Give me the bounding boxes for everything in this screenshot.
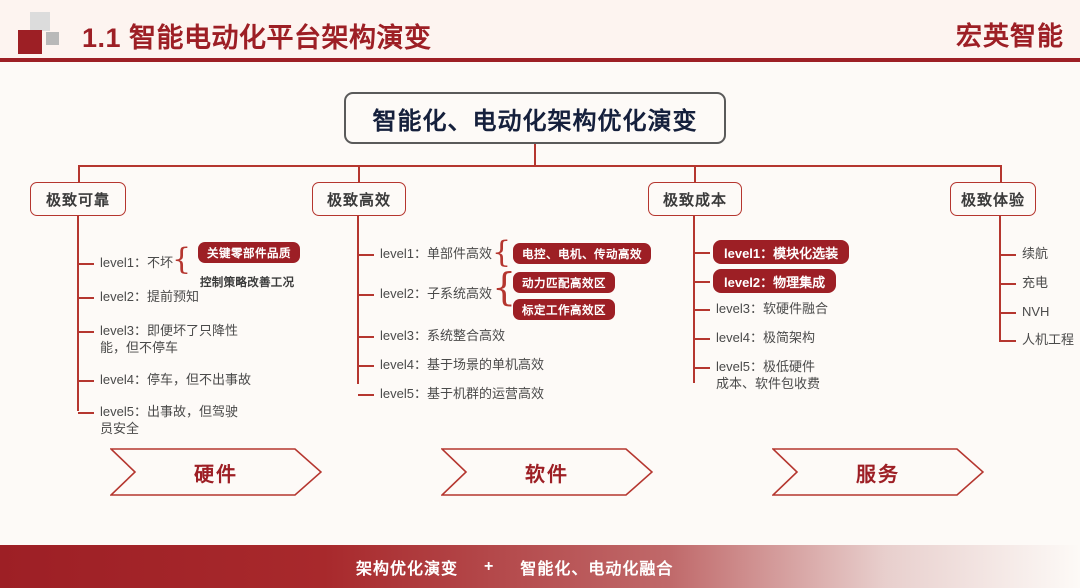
list-item[interactable]: level5：极低硬件 成本、软件包收费 (694, 358, 884, 392)
annotation-note: 控制策略改善工况 (200, 274, 294, 290)
list-item[interactable]: 人机工程 (1000, 331, 1080, 348)
list-item[interactable]: level2：提前预知 (78, 288, 268, 305)
level-label: level1：单部件高效 (380, 245, 492, 262)
footer-content: 架构优化演变 + 智能化、电动化融合 (356, 555, 673, 579)
footer-right-text: 智能化、电动化融合 (520, 555, 673, 579)
list-item[interactable]: 续航 (1000, 245, 1070, 262)
square-dark-red-icon (18, 30, 42, 54)
level-label: 续航 (1022, 245, 1048, 262)
list-item[interactable]: 充电 (1000, 274, 1070, 291)
level-label: 充电 (1022, 274, 1048, 291)
chevron-label-service: 服务 (772, 448, 984, 496)
level-label: level4：基于场景的单机高效 (380, 356, 544, 373)
square-light-gray-icon (30, 12, 50, 31)
connector-tick (358, 394, 374, 396)
level-label: level3：系统整合高效 (380, 327, 505, 344)
level-label: level4：停车，但不出事故 (100, 371, 251, 388)
connector-tick (1000, 283, 1016, 285)
branch-box-efficiency[interactable]: 极致高效 (312, 182, 406, 216)
root-title-box: 智能化、电动化架构优化演变 (344, 92, 726, 144)
connector-tick (694, 309, 710, 311)
footer-plus-sign: + (484, 558, 494, 576)
level-label: level3：软硬件融合 (716, 300, 828, 317)
connector-tick (78, 263, 94, 265)
level-label: level5：极低硬件 成本、软件包收费 (716, 358, 820, 392)
connector-root-stem (534, 144, 536, 166)
level-label: 人机工程 (1022, 331, 1074, 348)
level-label: level5：基于机群的运营高效 (380, 385, 544, 402)
connector-tick (1000, 340, 1016, 342)
branch-box-cost[interactable]: 极致成本 (648, 182, 742, 216)
connector-horizontal-bus (78, 165, 1002, 167)
connector-tick (78, 297, 94, 299)
list-item[interactable]: level4：极简架构 (694, 329, 864, 346)
level-label: NVH (1022, 303, 1049, 320)
list-item[interactable]: level5：出事故，但驾驶 员安全 (78, 403, 258, 437)
list-item[interactable]: level3：即便坏了只降性 能，但不停车 (78, 322, 258, 356)
annotation-badge[interactable]: 标定工作高效区 (513, 299, 615, 320)
list-item[interactable]: level3：系统整合高效 (358, 327, 538, 344)
page-title: 1.1 智能电动化平台架构演变 (82, 16, 432, 55)
annotation-badge[interactable]: 关键零部件品质 (198, 242, 300, 263)
level-label: level5：出事故，但驾驶 员安全 (100, 403, 238, 437)
level-label: level1：不坏 (100, 254, 173, 271)
connector-tick (1000, 312, 1016, 314)
chevron-label-hardware: 硬件 (110, 448, 322, 496)
connector-tick (78, 380, 94, 382)
connector-tick (358, 336, 374, 338)
connector-tick (694, 367, 710, 369)
annotation-badge[interactable]: 电控、电机、传动高效 (513, 243, 651, 264)
connector-tick (1000, 254, 1016, 256)
brace-icon: { (492, 238, 511, 268)
level-label: level2：提前预知 (100, 288, 199, 305)
connector-tick (78, 331, 94, 333)
level-label: level3：即便坏了只降性 能，但不停车 (100, 322, 238, 356)
list-item[interactable]: level4：基于场景的单机高效 (358, 356, 558, 373)
slide-footer: 架构优化演变 + 智能化、电动化融合 (0, 545, 1080, 588)
list-item[interactable]: level3：软硬件融合 (694, 300, 864, 317)
brand-logo-text: 宏英智能 (956, 16, 1064, 53)
connector-tick (694, 281, 710, 283)
slide-header: 1.1 智能电动化平台架构演变 宏英智能 (0, 0, 1080, 62)
connector-tick (358, 294, 374, 296)
level-badge-highlight[interactable]: level1：模块化选装 (713, 240, 849, 264)
level-label: level4：极简架构 (716, 329, 815, 346)
list-item[interactable]: level5：基于机群的运营高效 (358, 385, 558, 402)
logo-marks (18, 8, 72, 54)
connector-tick (358, 365, 374, 367)
footer-left-text: 架构优化演变 (356, 555, 458, 579)
list-item[interactable]: level4：停车，但不出事故 (78, 371, 278, 388)
connector-tick (358, 254, 374, 256)
list-item[interactable]: NVH (1000, 303, 1070, 320)
level-badge-highlight[interactable]: level2：物理集成 (713, 269, 836, 293)
slide-canvas: 1.1 智能电动化平台架构演变 宏英智能 智能化、电动化架构优化演变 极致可靠 … (0, 0, 1080, 588)
branch-box-experience[interactable]: 极致体验 (950, 182, 1036, 216)
connector-tick (694, 338, 710, 340)
connector-tick (694, 252, 710, 254)
square-small-gray-icon (46, 32, 59, 45)
brace-icon: { (172, 245, 191, 275)
branch-box-reliability[interactable]: 极致可靠 (30, 182, 126, 216)
level-label: level2：子系统高效 (380, 285, 492, 302)
chevron-label-software: 软件 (441, 448, 653, 496)
annotation-badge[interactable]: 动力匹配高效区 (513, 272, 615, 293)
header-divider (0, 58, 1080, 62)
connector-tick (78, 412, 94, 414)
